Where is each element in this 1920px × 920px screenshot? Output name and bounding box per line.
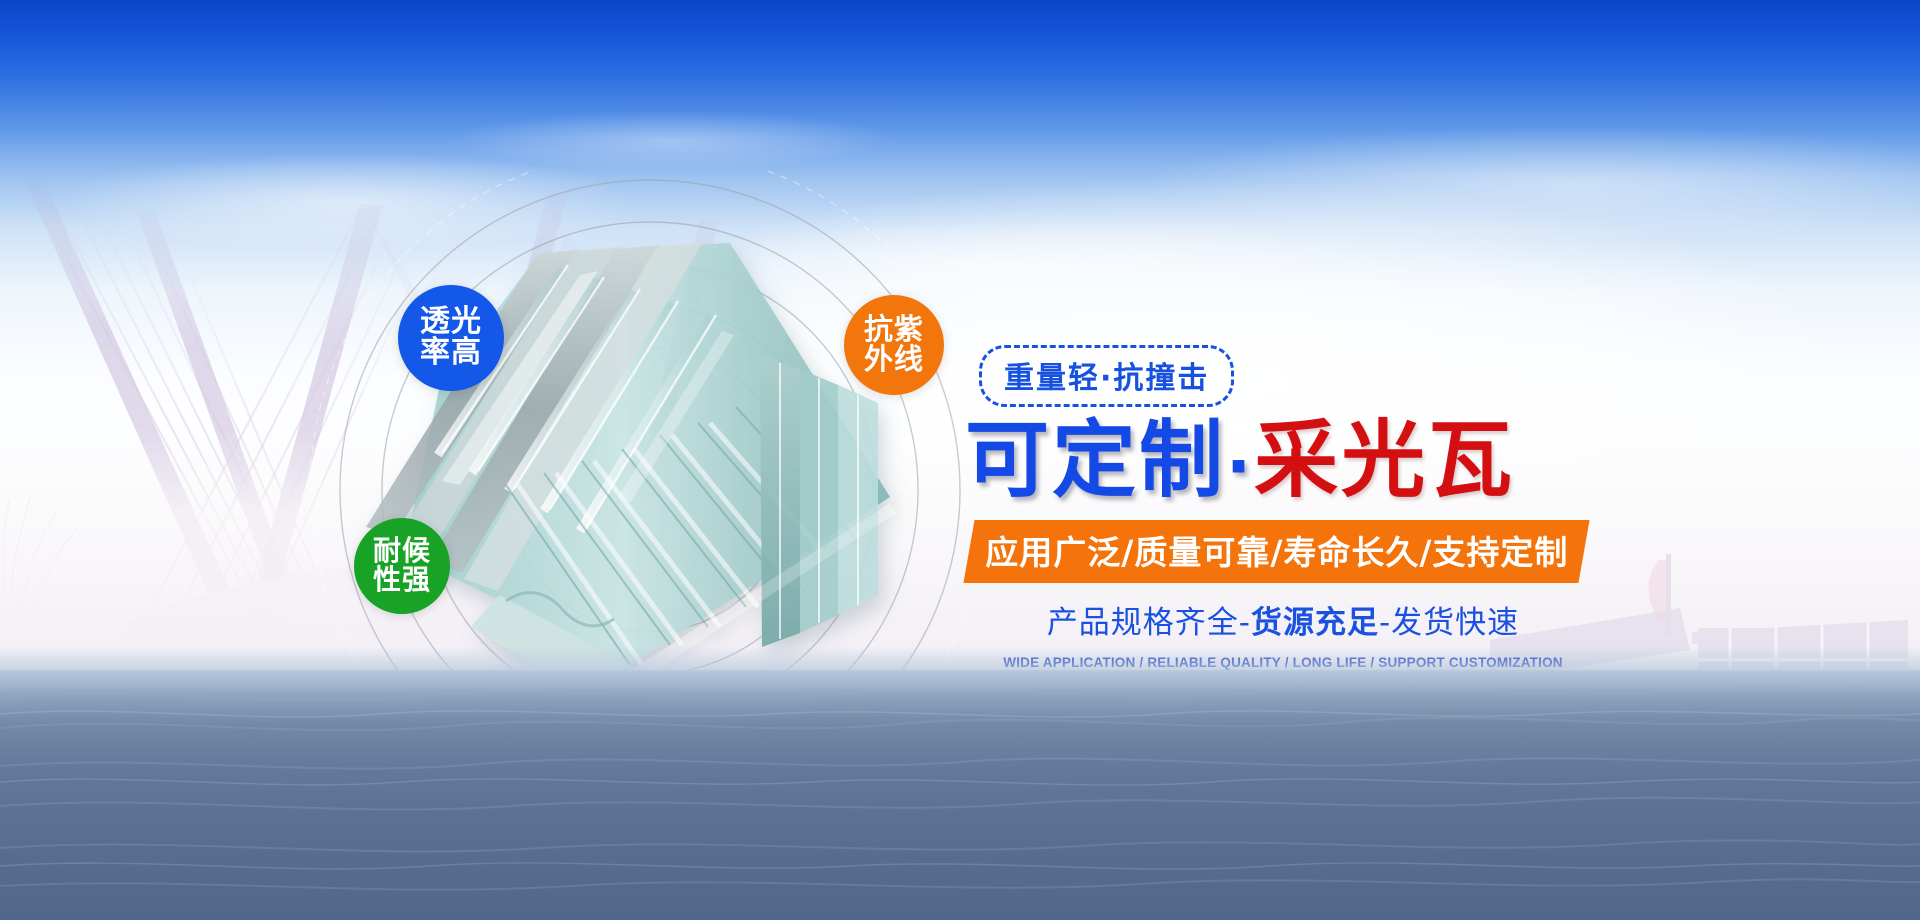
- badge-line-1: 耐候: [373, 537, 431, 566]
- badge-line-2: 外线: [864, 345, 924, 375]
- badge-line-2: 性强: [373, 566, 431, 595]
- badge-line-1: 透光: [420, 307, 482, 338]
- feature-bar: 应用广泛/质量可靠/寿命长久/支持定制: [963, 520, 1589, 583]
- promo-banner: 透光 率高 抗紫 外线 耐候 性强 保温 隔热 重量轻·抗撞击 可定制·采光瓦 …: [0, 0, 1920, 920]
- subline-part-1: 产品规格齐全-: [1047, 605, 1251, 641]
- water-wave-texture: [0, 670, 1920, 920]
- badge-line-2: 率高: [420, 338, 482, 369]
- subline-part-2: -发货快速: [1379, 605, 1519, 641]
- badge-weather-resistant[interactable]: 耐候 性强: [354, 518, 450, 614]
- subline: 产品规格齐全-货源充足-发货快速: [983, 597, 1583, 642]
- headline-separator-dot: ·: [1226, 428, 1254, 505]
- badge-uv-resistant[interactable]: 抗紫 外线: [844, 295, 944, 395]
- headline-red-text: 采光瓦: [1254, 410, 1515, 509]
- tagline-badge: 重量轻·抗撞击: [979, 345, 1234, 407]
- headline: 可定制·采光瓦: [965, 417, 1665, 504]
- badge-high-light-transmittance[interactable]: 透光 率高: [398, 285, 504, 391]
- badge-line-1: 抗紫: [864, 315, 924, 345]
- headline-blue-text: 可定制: [965, 411, 1226, 509]
- feature-bar-text: 应用广泛/质量可靠/寿命长久/支持定制: [985, 526, 1568, 574]
- subline-highlight: 货源充足: [1251, 605, 1379, 641]
